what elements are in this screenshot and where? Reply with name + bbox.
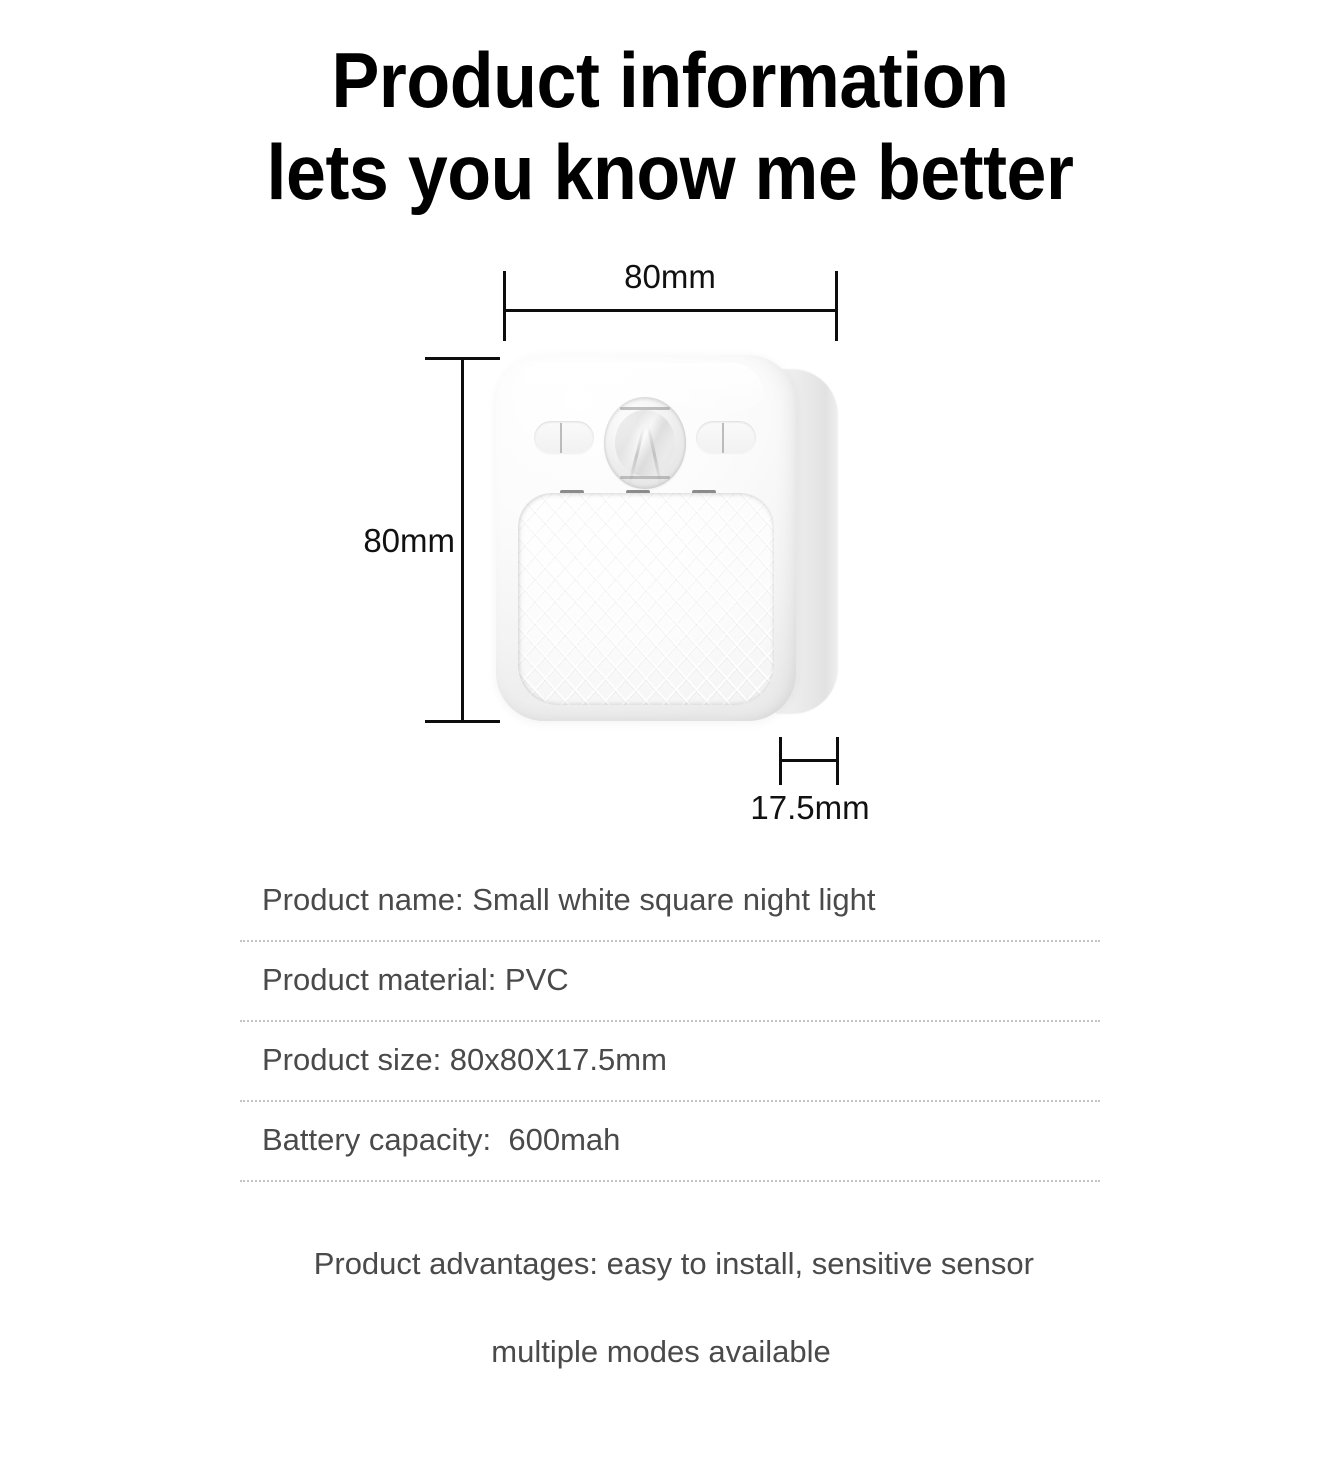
left-slot-divider bbox=[560, 423, 562, 453]
right-slot-divider bbox=[722, 423, 724, 453]
light-diffuser-panel bbox=[518, 493, 774, 705]
dimension-line-width bbox=[503, 309, 838, 312]
dimension-label-depth: 17.5mm bbox=[690, 789, 930, 827]
left-capsule-slot-icon bbox=[534, 421, 594, 455]
dimension-label-height: 80mm bbox=[300, 522, 455, 560]
dimension-tick-width-right bbox=[835, 271, 838, 341]
right-capsule-slot-icon bbox=[696, 421, 756, 455]
sensor-lens bbox=[615, 410, 675, 476]
dimension-label-width: 80mm bbox=[500, 258, 840, 296]
spec-row: Product material: PVC bbox=[240, 942, 1100, 1020]
advantages-line-2: multiple modes available bbox=[262, 1330, 1100, 1374]
page-title-line-1: Product information bbox=[54, 34, 1287, 126]
product-information-page: Product information lets you know me bet… bbox=[0, 0, 1340, 1340]
spec-row-advantages: Product advantages: easy to install, sen… bbox=[240, 1182, 1100, 1480]
page-title: Product information lets you know me bet… bbox=[0, 34, 1340, 218]
page-title-line-2: lets you know me better bbox=[54, 126, 1287, 218]
spec-row: Product size: 80x80X17.5mm bbox=[240, 1022, 1100, 1100]
pir-motion-sensor-icon bbox=[604, 397, 686, 489]
advantages-line-1: Product advantages: easy to install, sen… bbox=[314, 1246, 1034, 1281]
dimension-tick-width-left bbox=[503, 271, 506, 341]
spec-row: Battery capacity: 600mah bbox=[240, 1102, 1100, 1180]
dimension-line-height bbox=[461, 358, 464, 722]
sensor-rim-bottom bbox=[620, 476, 670, 479]
dimension-line-depth bbox=[779, 759, 839, 762]
device-front-body bbox=[496, 355, 796, 721]
specification-list: Product name: Small white square night l… bbox=[240, 862, 1100, 1480]
spec-row: Product name: Small white square night l… bbox=[240, 862, 1100, 940]
night-light-product-image bbox=[496, 355, 838, 727]
